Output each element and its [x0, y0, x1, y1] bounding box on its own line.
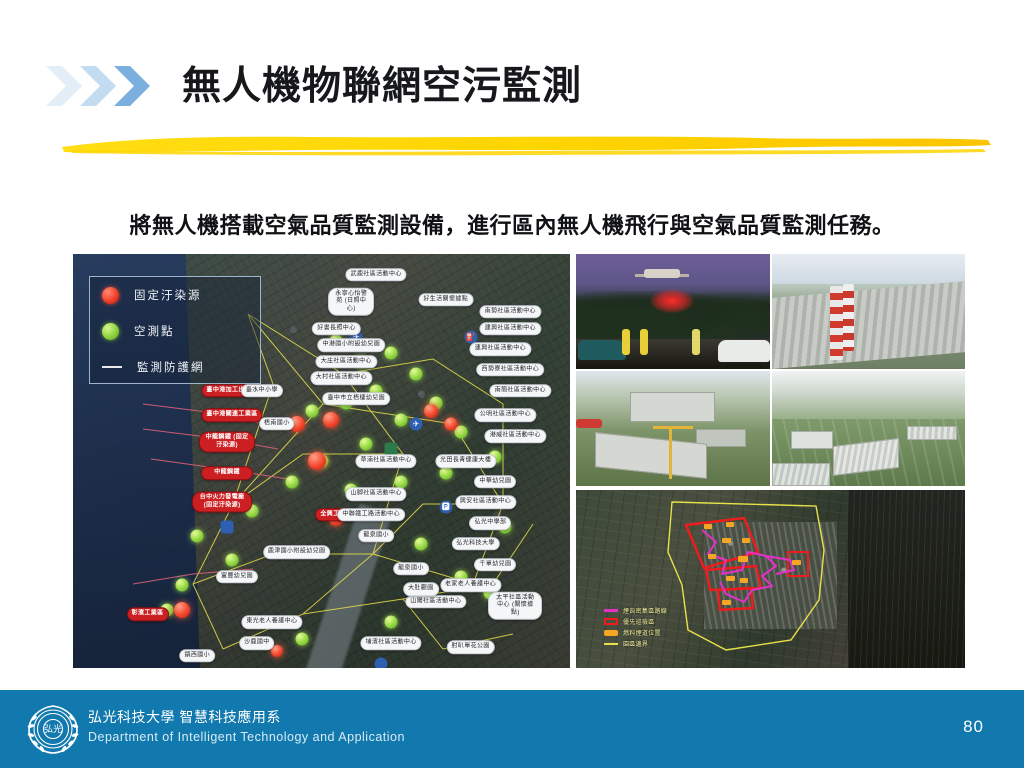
pollution-source-node [444, 417, 457, 430]
monitor-node [285, 475, 298, 488]
plan-legend-item-route: 煙囪密集區路線 [604, 606, 667, 615]
legend-item-protection-net: 監測防護網 [90, 349, 260, 385]
monitor-point-label: 武鹿社區活動中心 [346, 268, 407, 282]
legend-item-pollution-source: 固定汙染源 [90, 277, 260, 313]
monitor-node [439, 467, 452, 480]
operator-person [622, 329, 630, 355]
pollution-source-label: 彰濱工業區 [127, 607, 169, 621]
monitor-node [385, 616, 398, 629]
monitor-point-label: 臺水中小學 [241, 384, 283, 398]
legend-label-monitor-point: 空測點 [134, 323, 175, 339]
plan-legend-item-zone: 優先巡檢區 [604, 617, 667, 626]
seal-logo-text: 弘光 [44, 723, 62, 735]
monitor-point-label: 中華幼兒園 [474, 475, 516, 489]
pollution-source-node [424, 404, 438, 418]
monitor-point-label: 龍泉國小 [393, 562, 429, 576]
monitor-point-label: 梧南國小 [259, 417, 295, 431]
red-dot-icon [102, 287, 119, 304]
photo-drone-night-flight [576, 254, 770, 369]
chevron-decoration [44, 64, 146, 108]
plan-legend-label-stack: 燃料煙道位置 [623, 628, 661, 637]
footer-org-cn: 弘光科技大學 智慧科技應用系 [88, 707, 405, 727]
monitor-node [360, 438, 373, 451]
monitor-point-label: 大庄社區活動中心 [316, 355, 377, 369]
plan-legend-label-zone: 優先巡檢區 [623, 617, 655, 626]
monitor-node [385, 347, 398, 360]
monitor-point-label: 千單幼兒園 [474, 558, 516, 572]
warehouse-building [907, 426, 957, 440]
figure-area: 固定汙染源 空測點 監測防護網 [73, 254, 965, 668]
monitor-point-label: 鹿津國小附設幼兒園 [263, 545, 331, 559]
photo-grid [576, 254, 965, 486]
monitor-node [226, 554, 239, 567]
monitor-node [414, 537, 427, 550]
chevron-3-icon [112, 64, 152, 108]
monitor-point-label: 埔濱社區活動中心 [360, 636, 421, 650]
chimney-stack [843, 284, 854, 351]
monitor-point-label: 臺中市立梧棲幼兒園 [322, 392, 390, 406]
magenta-path-icon [604, 609, 618, 612]
drone-led-glow [650, 289, 694, 313]
flight-plan-legend: 煙囪密集區路線 優先巡檢區 燃料煙道位置 園區邊界 [604, 606, 667, 650]
monitor-point-label: 公明社區活動中心 [475, 409, 536, 423]
orange-marker-icon [604, 630, 618, 636]
map-legend: 固定汙染源 空測點 監測防護網 [89, 276, 261, 384]
warehouse-building [772, 463, 830, 486]
monitor-point-label: 好生活關懷據點 [418, 293, 473, 307]
photo-aerial-industrial-site [576, 371, 770, 486]
monitor-point-label: 大村社區活動中心 [311, 371, 372, 385]
page-title: 無人機物聯網空污監測 [182, 67, 582, 106]
photo-aerial-factory-chimney [772, 254, 966, 369]
pollution-source-node [323, 412, 339, 428]
monitor-point-label: 弘光中學部 [469, 516, 511, 530]
monitor-node [176, 579, 189, 592]
yellow-boundary-icon [604, 643, 618, 645]
monitor-point-label: 建興社區活動中心 [480, 322, 541, 336]
monitor-node [395, 413, 408, 426]
photo-aerial-rural-factory [772, 371, 966, 486]
university-seal-logo: 弘光 [26, 702, 80, 756]
pollution-source-label: 臺中港關連工業區 [201, 409, 262, 423]
poi-marker-icon: ✈ [409, 417, 422, 430]
plan-legend-item-stack: 燃料煙道位置 [604, 628, 667, 637]
monitor-point-label: 弘光科技大學 [451, 537, 499, 551]
plan-legend-item-boundary: 園區邊界 [604, 639, 667, 648]
factory-building [595, 432, 707, 478]
monitor-point-label: 好書長照中心 [312, 322, 360, 336]
warehouse-building [791, 431, 834, 449]
poi-marker-icon: ⛽ [464, 330, 477, 343]
parked-truck [718, 340, 770, 362]
factory-building [630, 392, 715, 422]
monitor-point-label: 港威社區活動中心 [485, 429, 546, 443]
monitor-point-label: 南簡社區活動中心 [490, 384, 551, 398]
monitor-point-label: 光田長青健康大樓 [435, 454, 496, 468]
slide-header: 無人機物聯網空污監測 [0, 55, 1024, 117]
footer-org-en: Department of Intelligent Technology and… [88, 730, 405, 744]
monitor-node [454, 426, 467, 439]
monitor-point-label: 草湳社區活動中心 [356, 454, 417, 468]
monitor-point-label: 中聯鐵工路活動中心 [337, 508, 405, 522]
slide-subtitle: 將無人機搭載空氣品質監測設備，進行區內無人機飛行與空氣品質監測任務。 [0, 208, 1024, 240]
monitoring-network-map: 固定汙染源 空測點 監測防護網 [73, 254, 570, 668]
flight-plan-satellite-map: 煙囪密集區路線 優先巡檢區 燃料煙道位置 園區邊界 [576, 490, 965, 668]
legend-label-pollution-source: 固定汙染源 [134, 287, 202, 303]
pollution-source-node [174, 602, 190, 618]
pollution-source-label: 中龍鋼鐵 [201, 467, 253, 481]
poi-marker-icon [385, 442, 398, 455]
monitor-point-label: 東光老人養護中心 [241, 616, 302, 630]
monitor-point-label: 太平社區活動中心 (關懷據點) [488, 592, 542, 621]
monitor-point-label: 連興社區活動中心 [470, 342, 531, 356]
chimney-stack [830, 286, 843, 360]
construction-crane [669, 426, 672, 479]
monitor-point-label: 興安社區活動中心 [455, 496, 516, 510]
plan-legend-label-route: 煙囪密集區路線 [623, 606, 667, 615]
monitor-node [409, 368, 422, 381]
monitor-point-label: 山陽社區活動中心 [405, 595, 466, 609]
monitor-point-label: 山脚社區活動中心 [346, 487, 407, 501]
monitor-point-label: 富豐幼兒園 [216, 570, 258, 584]
red-vehicle [576, 419, 602, 428]
monitor-point-label: 南勢社區活動中心 [480, 305, 541, 319]
monitor-point-label: 大肚觀園 [403, 583, 439, 597]
pollution-source-node [308, 452, 326, 470]
monitor-point-label: 西勢寮社區活動中心 [477, 363, 545, 377]
red-polygon-icon [604, 618, 618, 625]
slide-footer: 弘光 弘光科技大學 智慧科技應用系 Department of Intellig… [0, 690, 1024, 768]
poi-marker-icon [375, 657, 388, 668]
monitor-point-label: 沙鹿國中 [239, 636, 275, 650]
line-icon [102, 366, 122, 368]
yellow-brush-underline [58, 131, 993, 157]
monitor-node [305, 405, 318, 418]
monitor-point-label: 永寧心怡警苑 (日照中心) [328, 287, 374, 316]
legend-label-protection-net: 監測防護網 [137, 359, 205, 375]
operator-person [692, 329, 700, 355]
plan-legend-label-boundary: 園區邊界 [623, 639, 648, 648]
poi-marker-icon: 🅿 [439, 500, 452, 513]
legend-item-monitor-point: 空測點 [90, 313, 260, 349]
monitor-point-label: 鎮西國小 [179, 649, 215, 663]
monitor-node [395, 475, 408, 488]
pollution-source-label: 台中火力發電廠 (固定汙染源) [192, 492, 252, 513]
monitor-point-label: 龍泉國小 [358, 529, 394, 543]
monitor-point-label: 射叭單花公園 [446, 641, 494, 655]
monitor-point-label: 老家老人養護中心 [440, 578, 501, 592]
footer-org-block: 弘光科技大學 智慧科技應用系 Department of Intelligent… [88, 707, 405, 744]
monitor-point-label: 中港國小附設幼兒園 [318, 338, 386, 352]
poi-marker-icon [221, 521, 234, 534]
monitor-node [295, 633, 308, 646]
monitor-node [191, 529, 204, 542]
operator-person [640, 329, 648, 355]
pollution-source-label: 中龍鋼鐵 (固定汙染源) [199, 432, 255, 453]
drone-icon [644, 269, 680, 278]
page-number: 80 [963, 717, 984, 737]
green-dot-icon [102, 323, 119, 340]
parked-car [578, 340, 626, 360]
